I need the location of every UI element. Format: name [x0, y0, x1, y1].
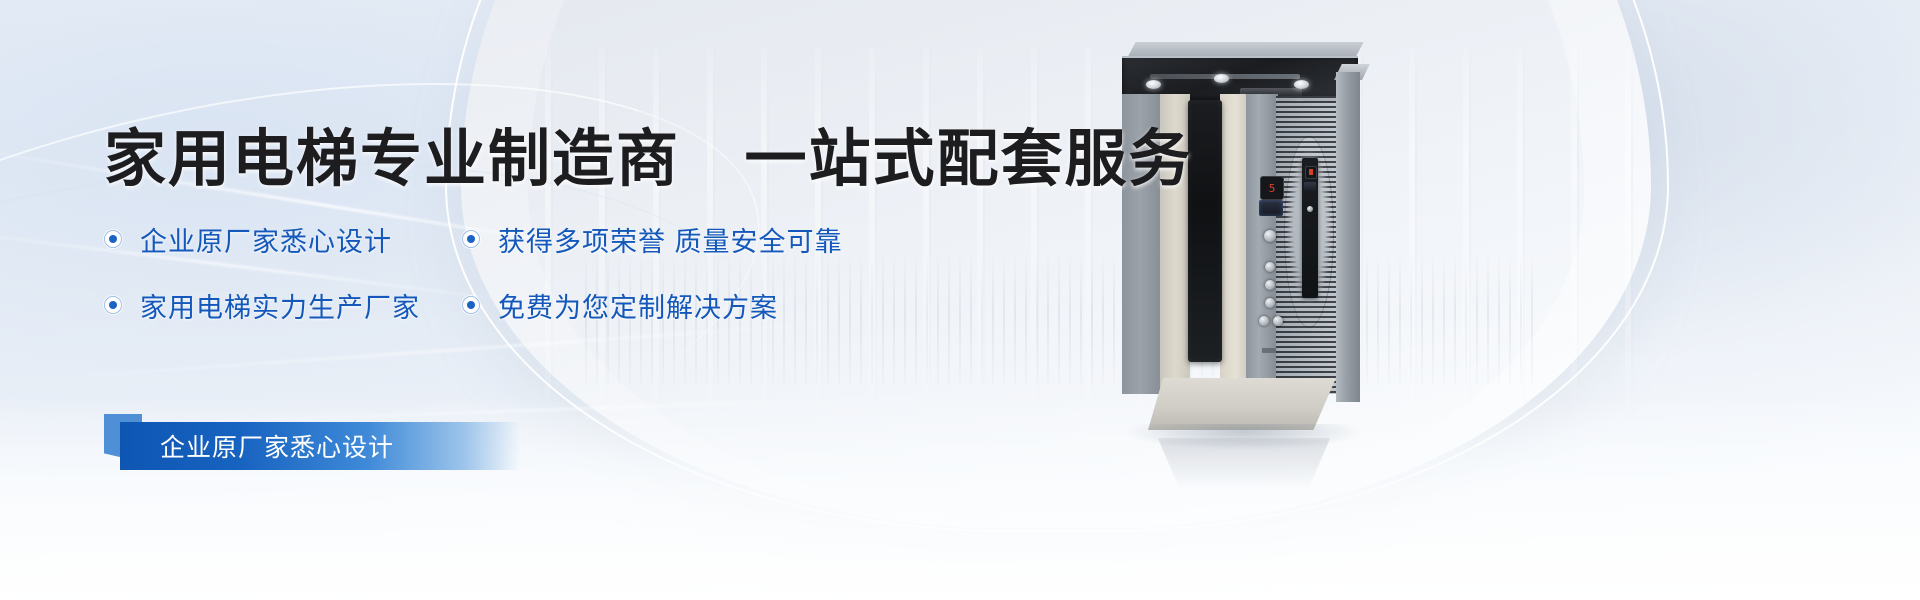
floor-indicator-display: 5	[1260, 176, 1284, 200]
cabin-floor-reflection	[1146, 438, 1342, 502]
cabin-inner-control-panel	[1302, 158, 1318, 298]
page-title: 家用电梯专业制造商 一站式配套服务	[104, 108, 1193, 198]
floor-indicator-value: 5	[1269, 183, 1276, 194]
list-item: 免费为您定制解决方案	[462, 286, 778, 325]
list-item-label: 获得多项荣誉 质量安全可靠	[498, 220, 843, 259]
list-item-label: 企业原厂家悉心设计	[140, 220, 392, 259]
list-item: 获得多项荣誉 质量安全可靠	[462, 220, 843, 259]
list-item-label: 免费为您定制解决方案	[498, 286, 778, 325]
banner-content: 家用电梯专业制造商 一站式配套服务 企业原厂家悉心设计 获得多项荣誉 质量安全可…	[0, 0, 1100, 600]
list-item: 企业原厂家悉心设计	[104, 220, 462, 259]
cabin-frame-right	[1336, 72, 1360, 402]
headline-part-2: 一站式配套服务	[744, 125, 1192, 194]
background-glow-right	[960, 0, 1920, 480]
cabin-wall-etched-glass	[1276, 96, 1340, 394]
headline-part-1: 家用电梯专业制造商	[104, 125, 680, 194]
bullet-dot-icon	[104, 230, 122, 248]
bullet-row: 家用电梯实力生产厂家 免费为您定制解决方案	[104, 272, 984, 338]
panel-button-icon	[1265, 280, 1275, 290]
inner-call-button-icon	[1307, 206, 1313, 212]
hero-banner: 5 家用电梯专业制造商 一站式配套服务 企	[0, 0, 1920, 600]
inner-info-display	[1304, 182, 1316, 191]
panel-door-close-button-icon	[1273, 316, 1283, 326]
inner-floor-indicator	[1305, 166, 1317, 179]
cabin-wall-middle	[1220, 94, 1248, 394]
panel-door-open-button-icon	[1259, 316, 1269, 326]
bullet-dot-icon	[462, 230, 480, 248]
ceiling-spotlight-icon	[1294, 80, 1309, 89]
ribbon-label: 企业原厂家悉心设计	[160, 422, 394, 470]
cabin-control-panel: 5	[1188, 100, 1222, 362]
feature-bullet-list: 企业原厂家悉心设计 获得多项荣誉 质量安全可靠 家用电梯实力生产厂家 免费为您定…	[104, 206, 984, 338]
cabin-floor	[1148, 378, 1336, 430]
list-item-label: 家用电梯实力生产厂家	[140, 286, 420, 325]
bullet-dot-icon	[462, 296, 480, 314]
panel-button-icon	[1264, 230, 1276, 242]
bullet-dot-icon	[104, 296, 122, 314]
panel-button-icon	[1265, 262, 1275, 272]
bullet-row: 企业原厂家悉心设计 获得多项荣誉 质量安全可靠	[104, 206, 984, 272]
panel-info-display	[1259, 200, 1283, 216]
panel-button-icon	[1265, 298, 1275, 308]
ceiling-spotlight-icon	[1214, 74, 1229, 83]
elevator-cabin-image: 5	[1122, 42, 1362, 412]
ceiling-spotlight-icon	[1146, 80, 1161, 89]
panel-brand-mark	[1262, 348, 1276, 353]
list-item: 家用电梯实力生产厂家	[104, 286, 462, 325]
